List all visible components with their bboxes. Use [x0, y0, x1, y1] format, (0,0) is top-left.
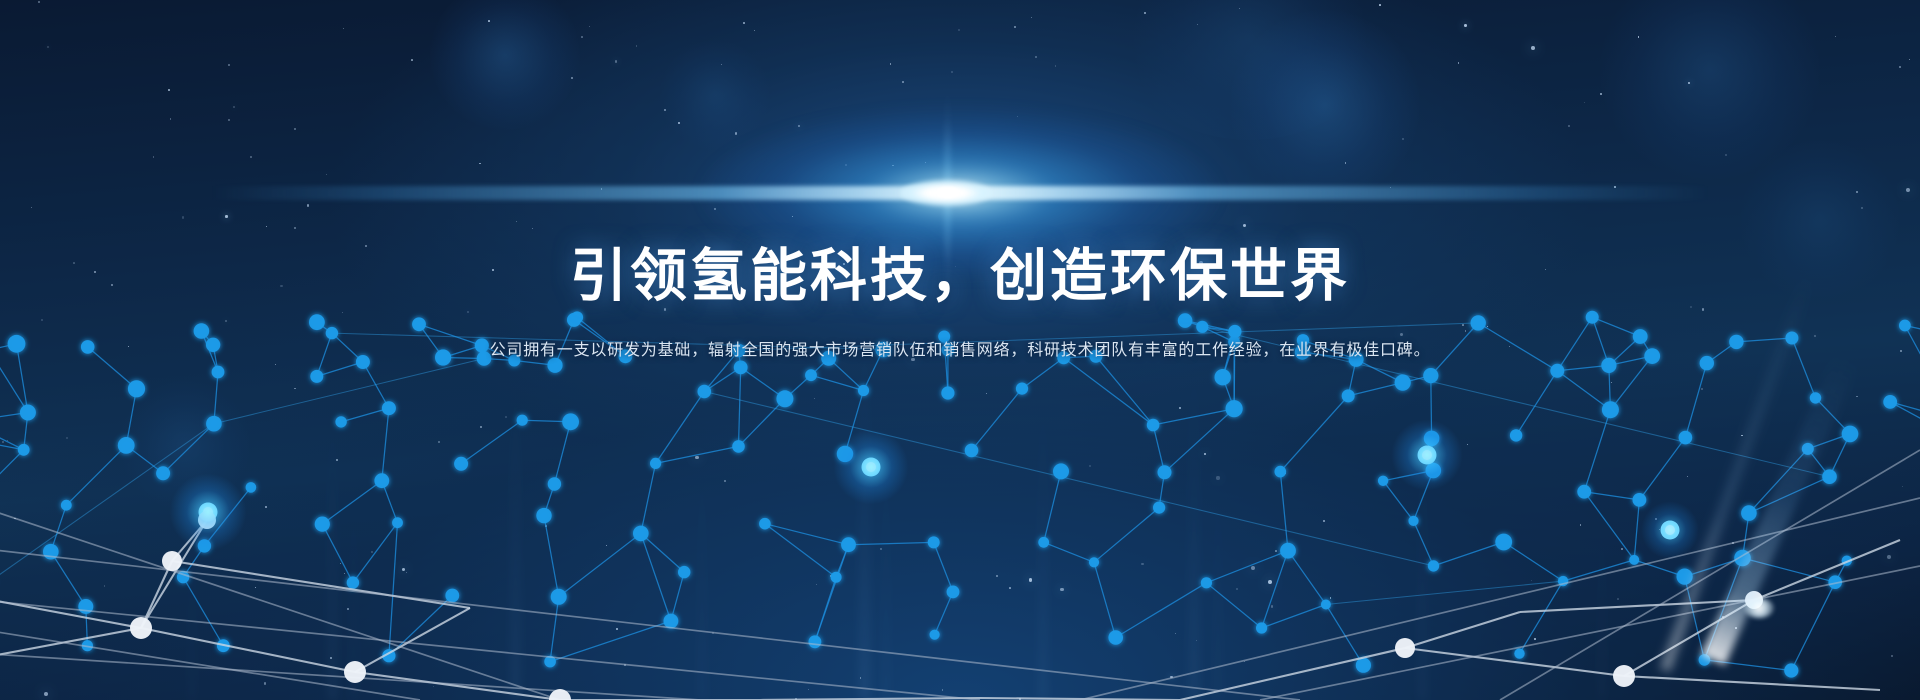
star-particle: [1055, 65, 1056, 66]
mesh-link: [1791, 582, 1835, 670]
mesh-link: [86, 607, 88, 646]
star-particle: [137, 630, 139, 632]
star-particle: [925, 162, 927, 164]
mesh-link: [0, 422, 24, 450]
star-particle: [664, 109, 666, 111]
mesh-node: [310, 370, 323, 383]
star-particle: [1467, 444, 1469, 446]
mesh-link: [1624, 600, 1754, 676]
light-beam: [1420, 400, 1425, 700]
mesh-link: [317, 362, 363, 376]
glow-node: [1640, 500, 1700, 560]
mesh-link: [1890, 402, 1920, 420]
flare-streak: [210, 186, 1710, 200]
mesh-link: [815, 577, 836, 642]
star-particle: [1611, 382, 1612, 383]
star-particle: [1638, 36, 1640, 38]
mesh-link: [1685, 577, 1705, 660]
mesh-node: [1422, 450, 1432, 460]
light-beam: [1216, 430, 1220, 700]
mesh-node: [1275, 466, 1287, 478]
star-particle: [1614, 186, 1616, 188]
mesh-node: [382, 401, 396, 415]
mesh-link: [1634, 560, 1684, 577]
star-particle: [406, 572, 407, 573]
page-subtitle: 公司拥有一支以研发为基础，辐射全国的强大市场营销队伍和销售网络，科研技术团队有丰…: [0, 339, 1920, 363]
mesh-link: [51, 505, 67, 552]
mesh-node: [1053, 463, 1069, 479]
mesh-node: [1201, 577, 1212, 588]
light-beam: [1190, 340, 1198, 700]
mesh-node: [198, 539, 211, 552]
star-particle: [615, 60, 617, 62]
mesh-link: [1431, 376, 1432, 439]
light-beam: [512, 360, 519, 700]
mesh-node: [1280, 543, 1296, 559]
star-particle: [678, 122, 680, 124]
star-particle: [1702, 308, 1704, 310]
mesh-link: [671, 572, 684, 621]
mesh-link: [550, 597, 559, 662]
mesh-link: [322, 481, 382, 524]
star-particle: [1725, 154, 1727, 156]
mesh-link: [341, 408, 389, 422]
mesh-node: [194, 323, 210, 339]
mesh-node: [1356, 658, 1371, 673]
mesh-node: [698, 385, 712, 399]
mesh-node: [1629, 555, 1639, 565]
mesh-link: [1202, 327, 1235, 332]
star-particle: [1580, 524, 1582, 526]
mesh-node: [199, 503, 218, 522]
mesh-link: [836, 545, 848, 578]
mesh-node: [206, 416, 222, 432]
mesh-node: [1699, 654, 1711, 666]
star-particle: [438, 441, 440, 443]
mesh-link: [0, 626, 420, 700]
star-particle: [902, 81, 904, 83]
star-particle: [1196, 640, 1197, 641]
star-particle: [1017, 116, 1018, 117]
star-particle: [1887, 555, 1891, 559]
star-particle: [1462, 324, 1464, 326]
mesh-node: [544, 656, 556, 668]
mesh-link: [1280, 472, 1288, 551]
star-particle: [266, 226, 268, 228]
star-particle: [1568, 125, 1570, 127]
mesh-node: [1395, 638, 1415, 658]
mesh-link: [1326, 605, 1364, 666]
star-particle: [343, 28, 344, 29]
mesh-link: [765, 524, 849, 545]
star-particle: [1835, 36, 1836, 37]
mesh-link: [126, 445, 163, 473]
mesh-node: [1883, 395, 1897, 409]
star-particle: [1014, 26, 1016, 28]
mesh-link: [1094, 508, 1159, 563]
mesh-link: [1262, 605, 1326, 629]
mesh-node: [1408, 516, 1418, 526]
mesh-node: [198, 511, 216, 529]
star-particle: [294, 128, 296, 130]
mesh-node: [1038, 537, 1049, 548]
mesh-node: [1418, 446, 1437, 465]
mesh-link: [1754, 540, 1900, 600]
mesh-node: [326, 327, 338, 339]
mesh-link: [1592, 317, 1640, 336]
star-particle: [1009, 587, 1011, 589]
mesh-node: [1378, 476, 1388, 486]
star-particle: [250, 156, 252, 158]
mesh-link: [1206, 551, 1288, 583]
mesh-link: [1159, 472, 1164, 507]
star-particle: [1659, 529, 1660, 530]
mesh-link: [815, 545, 849, 642]
mesh-link: [1262, 551, 1288, 628]
star-particle: [1902, 486, 1903, 487]
mesh-link: [214, 372, 218, 424]
star-particle: [255, 587, 256, 588]
bokeh-orb: [1600, 0, 1820, 180]
mesh-node: [776, 390, 793, 407]
mesh-link: [1743, 513, 1749, 558]
mesh-link: [1743, 558, 1836, 582]
mesh-node: [1226, 400, 1243, 417]
mesh-node: [928, 536, 940, 548]
star-particle: [636, 45, 638, 47]
star-particle: [44, 692, 48, 696]
mesh-node: [551, 589, 567, 605]
mesh-node: [1428, 560, 1439, 571]
star-particle: [225, 215, 227, 217]
mesh-node: [1734, 550, 1751, 567]
mesh-node: [664, 614, 679, 629]
mesh-node: [1679, 431, 1693, 445]
star-particle: [1617, 598, 1619, 600]
star-particle: [1089, 465, 1091, 467]
mesh-node: [118, 437, 135, 454]
star-particle: [986, 393, 987, 394]
bokeh-orb: [1230, 10, 1420, 200]
mesh-node: [1745, 591, 1763, 609]
mesh-link: [0, 500, 560, 700]
star-particle: [326, 174, 327, 175]
star-particle: [1464, 24, 1467, 27]
star-particle: [516, 221, 518, 223]
mesh-link: [522, 420, 570, 422]
glow-node: [1390, 418, 1464, 492]
mesh-node: [1495, 534, 1512, 551]
light-streak-head-icon: [1744, 598, 1774, 618]
star-particle: [275, 364, 276, 365]
mesh-node: [517, 415, 528, 426]
star-particle: [1251, 566, 1255, 570]
mesh-link: [550, 621, 671, 662]
mesh-link: [1280, 396, 1348, 472]
mesh-node: [1471, 315, 1486, 330]
mesh-node: [1633, 493, 1647, 507]
mesh-link: [1348, 383, 1403, 396]
star-particle: [712, 632, 714, 634]
mesh-node: [678, 566, 690, 578]
mesh-link: [641, 533, 684, 572]
mesh-link: [1584, 492, 1634, 560]
mesh-link: [656, 392, 705, 464]
star-particle: [182, 216, 184, 218]
star-particle: [392, 407, 394, 409]
mesh-node: [1321, 600, 1331, 610]
mesh-link: [1432, 438, 1434, 470]
star-particle: [958, 29, 960, 31]
mesh-link: [183, 546, 204, 577]
star-particle: [336, 459, 338, 461]
star-particle: [743, 22, 745, 24]
mesh-node: [1822, 469, 1837, 484]
light-beam: [884, 400, 888, 700]
mesh-link: [1153, 425, 1164, 472]
star-particle: [38, 1, 40, 3]
star-particle: [798, 125, 800, 127]
mesh-node: [941, 386, 954, 399]
star-particle: [1856, 191, 1858, 193]
glow-node: [168, 472, 248, 552]
mesh-link: [1816, 398, 1851, 434]
mesh-node: [61, 500, 72, 511]
mesh-node: [1665, 525, 1675, 535]
mesh-link: [704, 367, 740, 391]
mesh-node: [246, 482, 257, 493]
star-particle: [545, 525, 547, 527]
mesh-node: [382, 649, 395, 662]
mesh-node: [1784, 663, 1798, 677]
mesh-node: [1158, 465, 1172, 479]
mesh-node: [412, 317, 426, 331]
mesh-link: [741, 367, 785, 398]
star-particle: [2, 441, 4, 443]
star-particle: [47, 46, 49, 48]
star-particle: [1060, 588, 1063, 591]
mesh-node: [650, 458, 661, 469]
star-particle: [1216, 476, 1219, 479]
star-particle: [816, 584, 817, 585]
star-particle: [1465, 330, 1467, 332]
mesh-node: [1550, 364, 1564, 378]
mesh-link: [1116, 583, 1207, 638]
mesh-node: [858, 385, 869, 396]
mesh-link: [1403, 376, 1431, 383]
star-particle: [7, 440, 8, 441]
mesh-node: [571, 311, 583, 323]
mesh-node: [1741, 505, 1757, 521]
star-particle: [1275, 550, 1277, 552]
star-particle: [1141, 563, 1143, 565]
mesh-link: [1185, 321, 1202, 327]
star-particle: [225, 320, 227, 322]
mesh-link: [355, 608, 470, 672]
star-particle: [1285, 473, 1286, 474]
mesh-link: [1414, 521, 1434, 566]
mesh-node: [315, 517, 330, 532]
star-particle: [1534, 638, 1536, 640]
mesh-link: [1685, 558, 1743, 577]
star-particle: [1175, 633, 1176, 634]
mesh-node: [1613, 665, 1635, 687]
mesh-link: [934, 542, 953, 592]
mesh-link: [829, 358, 864, 390]
mesh-link: [141, 561, 172, 628]
mesh-link: [574, 317, 577, 320]
star-particle: [228, 64, 230, 66]
star-particle: [601, 188, 603, 190]
mesh-link: [1405, 648, 1624, 676]
star-particle: [1330, 597, 1332, 599]
star-particle: [721, 64, 722, 65]
mesh-link: [1584, 410, 1610, 492]
mesh-link: [849, 542, 934, 544]
mesh-link: [66, 445, 126, 505]
mesh-node: [43, 544, 59, 560]
star-particle: [1268, 580, 1272, 584]
flare-glint: [936, 187, 960, 198]
mesh-link: [1584, 492, 1639, 500]
star-particle: [1531, 46, 1535, 50]
mesh-link: [1808, 449, 1830, 477]
star-particle: [589, 26, 590, 27]
mesh-node: [732, 440, 745, 453]
mesh-node: [1342, 389, 1355, 402]
star-particle: [1179, 407, 1181, 409]
mesh-link: [1288, 551, 1326, 605]
mesh-node: [809, 635, 822, 648]
mesh-node: [1215, 369, 1231, 385]
mesh-node: [1828, 575, 1842, 589]
mesh-link: [1348, 359, 1356, 396]
star-particle: [104, 585, 105, 586]
mesh-link: [1044, 471, 1061, 542]
star-particle: [342, 312, 343, 313]
star-particle: [724, 480, 726, 482]
mesh-node: [1147, 419, 1160, 432]
star-particle: [860, 677, 862, 679]
star-particle: [233, 106, 235, 108]
star-particle: [411, 59, 413, 61]
mesh-node: [1089, 557, 1099, 567]
bokeh-orb: [430, 0, 580, 130]
mesh-link: [641, 463, 656, 533]
mesh-link: [1405, 612, 1520, 648]
light-beam: [860, 320, 869, 700]
star-particle: [890, 63, 892, 65]
mesh-node: [1256, 622, 1267, 633]
mesh-link: [141, 520, 207, 628]
star-particle: [754, 30, 755, 31]
mesh-node: [156, 466, 170, 480]
mesh-link: [641, 533, 671, 621]
bokeh-orb: [660, 40, 770, 150]
mesh-link: [1624, 676, 1880, 690]
mesh-node: [1423, 368, 1438, 383]
mesh-link: [204, 487, 251, 546]
mesh-link: [1905, 326, 1920, 334]
mesh-link: [1749, 477, 1830, 513]
mesh-link: [1383, 471, 1433, 481]
mesh-link: [1223, 377, 1234, 409]
mesh-node: [1395, 375, 1411, 391]
mesh-link: [214, 359, 484, 424]
mesh-link: [1890, 402, 1920, 435]
light-beam: [352, 450, 355, 700]
star-particle: [830, 575, 832, 577]
star-particle: [1244, 661, 1245, 662]
mesh-node: [1426, 463, 1442, 479]
mesh-node: [1577, 485, 1591, 499]
light-beam: [190, 470, 194, 700]
mesh-link: [1685, 363, 1706, 438]
star-particle: [996, 575, 998, 577]
mesh-node: [1810, 392, 1821, 403]
star-particle: [1741, 435, 1743, 437]
mesh-node: [562, 413, 579, 430]
star-particle: [664, 308, 666, 310]
mesh-link: [1609, 365, 1611, 409]
star-particle: [942, 689, 944, 691]
star-particle: [606, 545, 607, 546]
mesh-link: [1516, 371, 1557, 436]
mesh-link: [972, 389, 1023, 451]
mesh-link: [559, 533, 641, 596]
star-particle: [1906, 188, 1910, 192]
mesh-link: [1383, 481, 1413, 521]
mesh-link: [1206, 583, 1261, 628]
star-particle: [808, 689, 809, 690]
star-particle: [31, 207, 32, 208]
mesh-link: [739, 399, 785, 447]
star-particle: [170, 118, 172, 120]
mesh-link: [1557, 371, 1610, 410]
mesh-link: [461, 420, 522, 464]
star-particle: [14, 518, 16, 520]
star-particle: [433, 686, 434, 687]
mesh-link: [845, 391, 864, 454]
mesh-link: [811, 375, 864, 390]
mesh-link: [51, 552, 86, 607]
mesh-node: [1661, 521, 1680, 540]
star-particle: [581, 36, 583, 38]
mesh-link: [389, 523, 398, 656]
mesh-link: [1180, 648, 1405, 700]
mesh-node: [1153, 502, 1165, 514]
mesh-node: [374, 473, 389, 488]
star-particle: [505, 416, 507, 418]
star-particle: [1621, 548, 1623, 550]
mesh-link: [739, 367, 741, 446]
mesh-link: [544, 516, 559, 597]
mesh-node: [930, 630, 940, 640]
mesh-link: [1835, 561, 1847, 583]
star-particle: [66, 437, 68, 439]
mesh-node: [947, 586, 960, 599]
star-particle: [1701, 388, 1703, 390]
star-particle: [344, 573, 345, 574]
mesh-link: [765, 524, 836, 578]
star-particle: [695, 456, 699, 460]
mesh-node: [633, 526, 649, 542]
star-particle: [892, 165, 894, 167]
light-beam: [1040, 370, 1046, 700]
mesh-link: [1153, 409, 1234, 425]
star-particle: [1899, 66, 1901, 68]
star-particle: [1861, 207, 1862, 208]
